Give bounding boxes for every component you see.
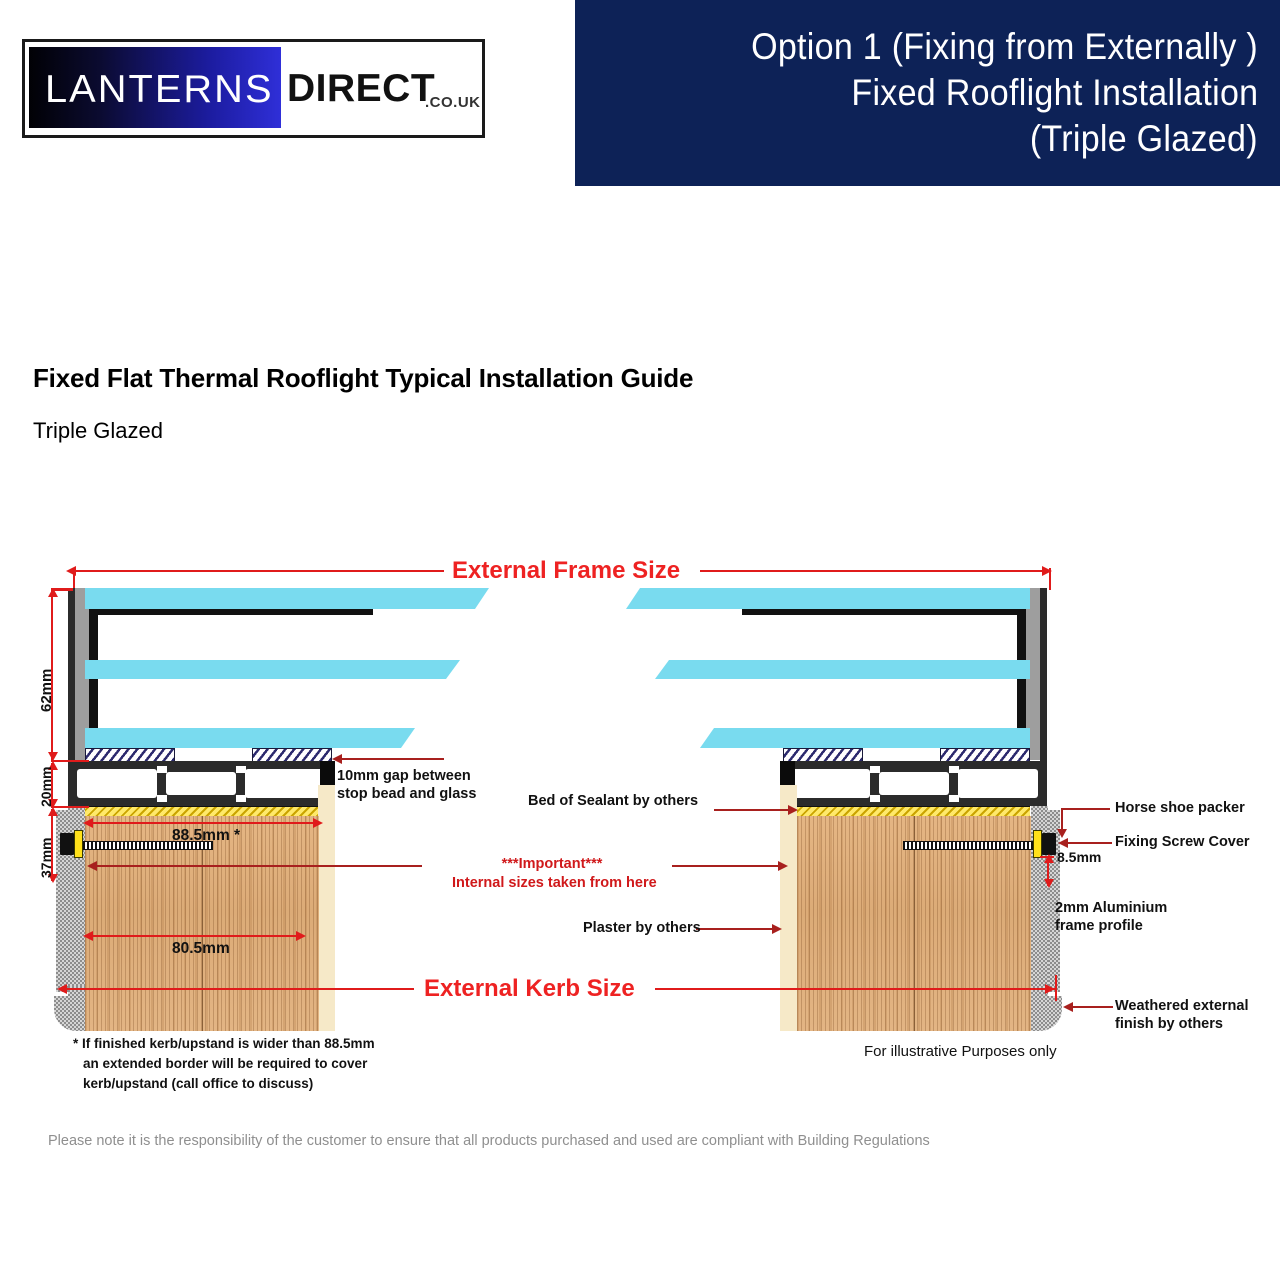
header-line-1: Option 1 (Fixing from Externally ) [751, 24, 1258, 70]
glass-pane-inner-right [700, 728, 1030, 748]
callout-bed-of-sealant: Bed of Sealant by others [528, 792, 698, 810]
fixing-screw-leader [1066, 842, 1112, 844]
fixing-screw-right [903, 841, 1033, 850]
callout-plaster: Plaster by others [583, 919, 701, 937]
label-external-kerb-size: External Kerb Size [424, 975, 635, 1003]
logo-word-lanterns: LANTERNS [45, 68, 274, 112]
logo-tld: .CO.UK [425, 94, 481, 111]
glass-spacer-vert-2-left [89, 679, 98, 733]
frame-size-dim-line-left [74, 570, 444, 572]
frame-chamber-thermal-left [166, 772, 236, 795]
dim85-tick [1040, 856, 1054, 858]
kerb-footnote-line2: an extended border will be required to c… [73, 1056, 367, 1071]
important-note-line2: Internal sizes taken from here [452, 875, 657, 891]
glass-pane-middle-left [85, 660, 460, 679]
glass-spacer-vert-1-left [89, 609, 98, 668]
dim62-ext-top [51, 589, 73, 591]
stop-bead-block-left [320, 761, 335, 785]
callout-weathered-finish: Weathered external finish by others [1115, 997, 1249, 1033]
important-arrow-right [778, 861, 788, 871]
gasket-inner-left [252, 748, 332, 762]
bed-of-sealant-leader [714, 809, 796, 811]
horse-shoe-packer-right [1033, 830, 1042, 858]
callout-alu-profile-line1: 2mm Aluminium [1055, 900, 1167, 916]
kerb-footnote-line3: kerb/upstand (call office to discuss) [73, 1076, 313, 1091]
dim805-text: 80.5mm [172, 940, 230, 958]
gap-note-arrow [332, 754, 342, 764]
dim37-text: 37mm [38, 838, 54, 878]
kerb-size-arrow-right [1045, 984, 1055, 994]
header-line-2: Fixed Rooflight Installation [851, 70, 1258, 116]
brand-logo: LANTERNS DIRECT .CO.UK [22, 39, 485, 138]
footer-disclaimer: Please note it is the responsibility of … [48, 1133, 930, 1149]
weathered-arrow [1063, 1002, 1073, 1012]
fixing-screw-cover-left [60, 833, 74, 855]
glass-spacer-vert-1-right [1017, 609, 1026, 668]
label-external-frame-size: External Frame Size [452, 557, 680, 585]
frame-size-dim-line-right [700, 570, 1050, 572]
dim885-line [90, 822, 315, 824]
important-leader-right [672, 865, 786, 867]
callout-alu-profile: 2mm Aluminium frame profile [1055, 899, 1167, 935]
header-banner: Option 1 (Fixing from Externally ) Fixed… [575, 0, 1280, 186]
dim85-text: 8.5mm [1057, 849, 1101, 865]
weathered-leader [1073, 1006, 1113, 1008]
frame-size-ext-right [1049, 568, 1051, 590]
important-arrow-left [87, 861, 97, 871]
page-subtitle: Triple Glazed [33, 418, 163, 444]
dim885-text: 88.5mm * [172, 827, 240, 845]
plaster-leader [696, 928, 780, 930]
kerb-size-ext-right [1055, 975, 1057, 1001]
thermal-break-notch-top-right-right [949, 766, 959, 773]
kerb-footnote: * If finished kerb/upstand is wider than… [73, 1034, 375, 1094]
frame-chamber-outer-left [77, 769, 157, 798]
illustrative-note: For illustrative Purposes only [864, 1043, 1057, 1060]
glass-spacer-vert-2-right [1017, 679, 1026, 733]
callout-weathered-line1: Weathered external [1115, 998, 1249, 1014]
horse-shoe-packer-left [74, 830, 83, 858]
fixing-screw-arrow [1058, 838, 1068, 848]
horse-shoe-arrow [1057, 829, 1067, 838]
horse-shoe-leader [1063, 808, 1110, 810]
gap-note-leader [340, 758, 444, 760]
bed-of-sealant-arrow [788, 805, 798, 815]
callout-10mm-gap: 10mm gap between stop bead and glass [337, 767, 476, 803]
gasket-outer-right [940, 748, 1030, 762]
dim37-arrow-top [48, 807, 58, 816]
frame-chamber-outer-right [958, 769, 1038, 798]
kerb-footnote-line1: * If finished kerb/upstand is wider than… [73, 1036, 375, 1051]
header-line-3: (Triple Glazed) [1030, 116, 1258, 162]
frame-size-ext-left [73, 568, 75, 590]
dim805-line [90, 935, 298, 937]
kerb-size-line-left [64, 988, 414, 990]
dim805-arrow-right [296, 931, 306, 941]
kerb-size-arrow-left [57, 984, 67, 994]
page-title: Fixed Flat Thermal Rooflight Typical Ins… [33, 363, 693, 394]
dim885-arrow-right [313, 818, 323, 828]
frame-chamber-inner-left [245, 769, 323, 798]
callout-horse-shoe-packer: Horse shoe packer [1115, 799, 1245, 817]
plaster-arrow [772, 924, 782, 934]
kerb-size-line-right [655, 988, 1055, 990]
callout-alu-profile-line2: frame profile [1055, 918, 1143, 934]
glass-pane-inner-left [85, 728, 415, 748]
glass-spacer-top-right [742, 609, 1026, 615]
callout-weathered-line2: finish by others [1115, 1016, 1223, 1032]
glass-spacer-top-left [89, 609, 373, 615]
thermal-break-notch-bot-left [157, 795, 167, 802]
dim20-text: 20mm [38, 767, 54, 807]
frame-chamber-thermal-right [879, 772, 949, 795]
important-leader-left [95, 865, 422, 867]
thermal-break-notch-top-left-right [870, 766, 880, 773]
glass-pane-outer-right [626, 588, 1030, 609]
gasket-outer-left [85, 748, 175, 762]
callout-10mm-gap-line2: stop bead and glass [337, 786, 476, 802]
thermal-break-notch-bot-left-right [870, 795, 880, 802]
thermal-break-notch-top-left [157, 766, 167, 773]
glass-pane-middle-right [655, 660, 1030, 679]
dim85-arrow-bot [1044, 879, 1054, 888]
frame-chamber-inner-right [792, 769, 870, 798]
important-note: ***Important*** Internal sizes taken fro… [452, 855, 652, 893]
callout-fixing-screw-cover: Fixing Screw Cover [1115, 833, 1250, 851]
dim885-arrow-left [83, 818, 93, 828]
thermal-break-notch-bot-right-left [236, 795, 246, 802]
glass-pane-outer-left [85, 588, 489, 609]
important-note-line1: ***Important*** [502, 856, 603, 872]
dim62-text: 62mm [38, 669, 55, 712]
fixing-screw-cover-right [1042, 833, 1056, 855]
callout-10mm-gap-line1: 10mm gap between [337, 768, 471, 784]
installation-cross-section-diagram: External Frame Size 62mm [0, 520, 1280, 1120]
stop-bead-block-right [780, 761, 795, 785]
thermal-break-notch-bot-right-right [949, 795, 959, 802]
plaster-strip-right [780, 785, 797, 1031]
thermal-break-notch-top-right-left [236, 766, 246, 773]
gasket-inner-right [783, 748, 863, 762]
dim805-arrow-left [83, 931, 93, 941]
logo-word-direct: DIRECT [287, 67, 435, 111]
